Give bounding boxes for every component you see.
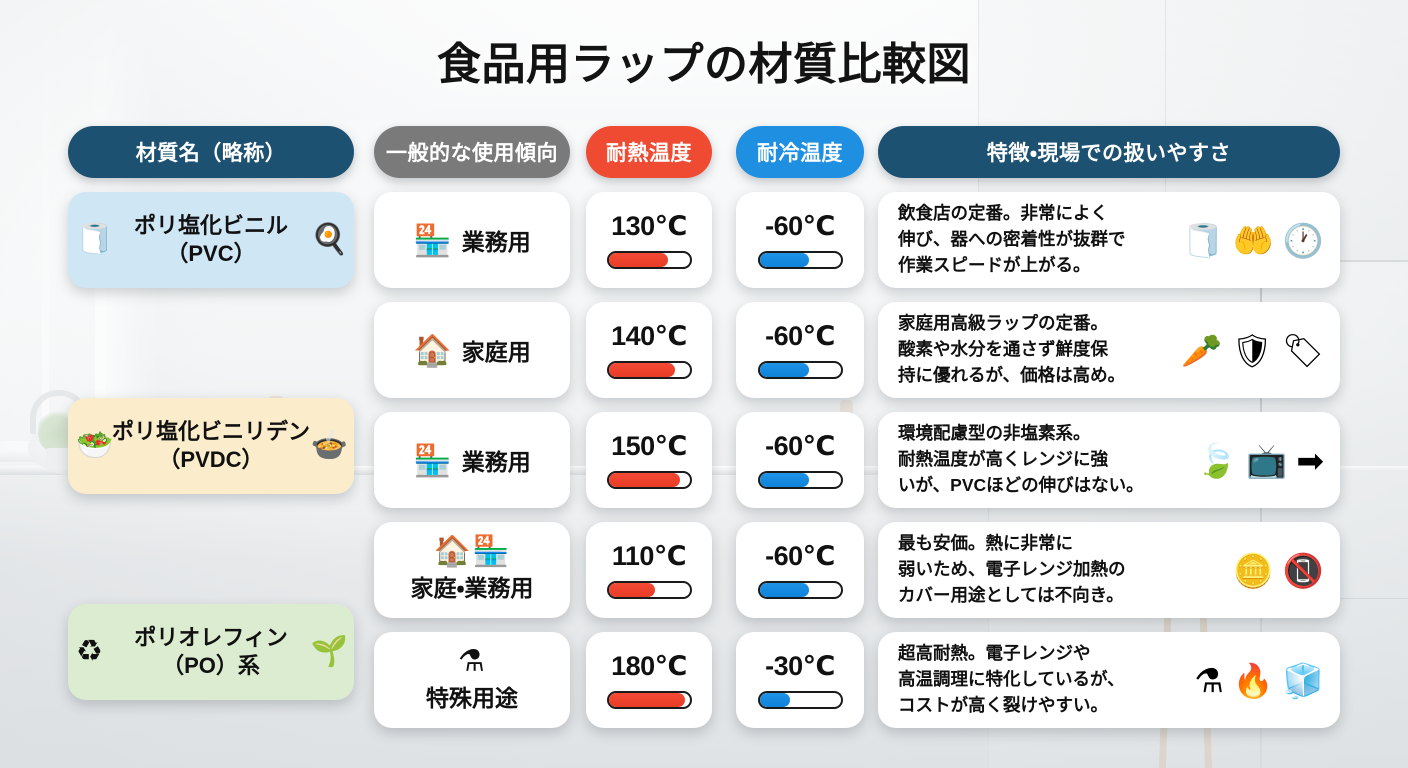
usage-card[interactable]: 🏪業務用	[374, 412, 570, 508]
description-icon-group: 🥕🛡🏷	[1181, 334, 1324, 367]
description-icon-group: 🍃📺➡	[1196, 444, 1324, 477]
usage-label: 業務用	[462, 223, 531, 257]
usage-icon: 🏠🏪	[434, 537, 511, 567]
cold-bar-fill	[760, 583, 809, 597]
heat-bar	[607, 691, 692, 709]
usage-icon: 🏠	[413, 335, 452, 366]
column-header-label: 一般的な使用傾向	[386, 137, 558, 167]
material-name-text: ポリオレフィン（PO）系	[134, 624, 288, 679]
column-header-use: 一般的な使用傾向	[374, 126, 570, 178]
usage-icon: 🏪	[413, 445, 452, 476]
heat-resistance-card[interactable]: 140℃	[586, 302, 712, 398]
material-icon-left: 🧻	[76, 225, 113, 255]
description-icon: 🍃	[1196, 444, 1237, 477]
cold-value: -60℃	[765, 431, 835, 462]
cold-resistance-card[interactable]: -60℃	[736, 522, 864, 618]
column-header-desc: 特徴・現場での扱いやすさ	[878, 126, 1340, 178]
heat-value: 140℃	[611, 321, 687, 352]
description-icon: 🕐	[1283, 224, 1324, 257]
comparison-table: 材質名（略称）一般的な使用傾向耐熱温度耐冷温度特徴・現場での扱いやすさ🧻ポリ塩化…	[0, 0, 1408, 768]
usage-label: 特殊用途	[426, 679, 518, 713]
cold-bar	[758, 691, 843, 709]
description-icon: 🧻	[1183, 224, 1224, 257]
cold-value: -60℃	[765, 321, 835, 352]
description-icon: 🧊	[1283, 664, 1324, 697]
heat-resistance-card[interactable]: 150℃	[586, 412, 712, 508]
material-icon-left: ♻	[76, 637, 103, 667]
usage-card[interactable]: ⚗特殊用途	[374, 632, 570, 728]
description-text: 飲食店の定番。非常によく 伸び、器への密着性が抜群で 作業スピードが上がる。	[898, 201, 1126, 279]
material-name-text: ポリ塩化ビニル（PVC）	[134, 212, 288, 267]
usage-card[interactable]: 🏪業務用	[374, 192, 570, 288]
description-icon-group: 🪙📵	[1233, 554, 1324, 587]
cold-bar	[758, 361, 843, 379]
usage-label: 家庭・業務用	[411, 569, 534, 603]
cold-bar-fill	[760, 253, 809, 267]
heat-bar-fill	[609, 253, 669, 267]
cold-bar	[758, 581, 843, 599]
description-icon: 🏷	[1282, 334, 1324, 367]
cold-bar	[758, 251, 843, 269]
description-card[interactable]: 超高耐熱。電子レンジや 高温調理に特化しているが、 コストが高く裂けやすい。⚗🔥…	[878, 632, 1340, 728]
cold-bar	[758, 471, 843, 489]
description-card[interactable]: 環境配慮型の非塩素系。 耐熱温度が高くレンジに強 いが、PVCほどの伸びはない。…	[878, 412, 1340, 508]
description-text: 家庭用高級ラップの定番。 酸素や水分を通さず鮮度保 持に優れるが、価格は高め。	[898, 311, 1125, 389]
cold-resistance-card[interactable]: -60℃	[736, 192, 864, 288]
heat-bar	[607, 251, 692, 269]
column-header-label: 耐冷温度	[757, 137, 843, 167]
cold-bar-fill	[760, 473, 809, 487]
heat-resistance-card[interactable]: 130℃	[586, 192, 712, 288]
description-icon: 🪙	[1233, 554, 1274, 587]
cold-resistance-card[interactable]: -60℃	[736, 412, 864, 508]
heat-bar	[607, 581, 692, 599]
column-header-label: 材質名（略称）	[136, 137, 287, 167]
heat-bar-fill	[609, 583, 655, 597]
heat-resistance-card[interactable]: 110℃	[586, 522, 712, 618]
cold-value: -60℃	[765, 211, 835, 242]
heat-bar	[607, 361, 692, 379]
usage-card[interactable]: 🏠家庭用	[374, 302, 570, 398]
material-name-card[interactable]: 🧻ポリ塩化ビニル（PVC）🍳	[68, 192, 354, 288]
cold-bar-fill	[760, 363, 809, 377]
cold-bar-fill	[760, 693, 791, 707]
heat-bar	[607, 471, 692, 489]
cold-value: -30℃	[765, 651, 835, 682]
usage-label: 業務用	[462, 443, 531, 477]
description-card[interactable]: 家庭用高級ラップの定番。 酸素や水分を通さず鮮度保 持に優れるが、価格は高め。🥕…	[878, 302, 1340, 398]
description-icon: 📺	[1246, 444, 1287, 477]
cold-value: -60℃	[765, 541, 835, 572]
usage-icon: 🏪	[413, 225, 452, 256]
material-icon-left: 🥗	[76, 431, 113, 461]
description-icon: 🛡	[1231, 334, 1273, 367]
description-card[interactable]: 最も安価。熱に非常に 弱いため、電子レンジ加熱の カバー用途としては不向き。🪙📵	[878, 522, 1340, 618]
description-text: 環境配慮型の非塩素系。 耐熱温度が高くレンジに強 いが、PVCほどの伸びはない。	[898, 421, 1144, 499]
heat-value: 110℃	[612, 541, 686, 572]
heat-value: 180℃	[611, 651, 687, 682]
column-header-heat: 耐熱温度	[586, 126, 712, 178]
description-icon: ➡	[1296, 444, 1324, 477]
material-name-card[interactable]: ♻ポリオレフィン（PO）系🌱	[68, 604, 354, 700]
heat-value: 150℃	[611, 431, 687, 462]
column-header-cold: 耐冷温度	[736, 126, 864, 178]
material-icon-right: 🍳	[311, 225, 348, 255]
description-icon: ⚗	[1194, 664, 1224, 697]
usage-icon: ⚗	[458, 647, 486, 677]
description-icon: 🔥	[1233, 664, 1274, 697]
column-header-name: 材質名（略称）	[68, 126, 354, 178]
description-icon: 📵	[1283, 554, 1324, 587]
cold-resistance-card[interactable]: -60℃	[736, 302, 864, 398]
material-name-text: ポリ塩化ビニリデン（PVDC）	[112, 418, 310, 473]
usage-card[interactable]: 🏠🏪家庭・業務用	[374, 522, 570, 618]
description-icon: 🥕	[1181, 334, 1222, 367]
heat-resistance-card[interactable]: 180℃	[586, 632, 712, 728]
description-text: 最も安価。熱に非常に 弱いため、電子レンジ加熱の カバー用途としては不向き。	[898, 531, 1126, 609]
heat-bar-fill	[609, 693, 686, 707]
material-icon-right: 🌱	[311, 637, 348, 667]
material-icon-right: 🍲	[311, 431, 348, 461]
usage-label: 家庭用	[462, 333, 531, 367]
description-icon-group: ⚗🔥🧊	[1194, 664, 1324, 697]
description-icon: 🤲	[1233, 224, 1274, 257]
material-name-card[interactable]: 🥗ポリ塩化ビニリデン（PVDC）🍲	[68, 398, 354, 494]
heat-bar-fill	[609, 363, 675, 377]
column-header-label: 特徴・現場での扱いやすさ	[987, 137, 1231, 167]
description-text: 超高耐熱。電子レンジや 高温調理に特化しているが、 コストが高く裂けやすい。	[898, 641, 1125, 719]
description-card[interactable]: 飲食店の定番。非常によく 伸び、器への密着性が抜群で 作業スピードが上がる。🧻🤲…	[878, 192, 1340, 288]
cold-resistance-card[interactable]: -30℃	[736, 632, 864, 728]
description-icon-group: 🧻🤲🕐	[1183, 224, 1324, 257]
heat-value: 130℃	[611, 211, 687, 242]
column-header-label: 耐熱温度	[606, 137, 692, 167]
heat-bar-fill	[609, 473, 680, 487]
